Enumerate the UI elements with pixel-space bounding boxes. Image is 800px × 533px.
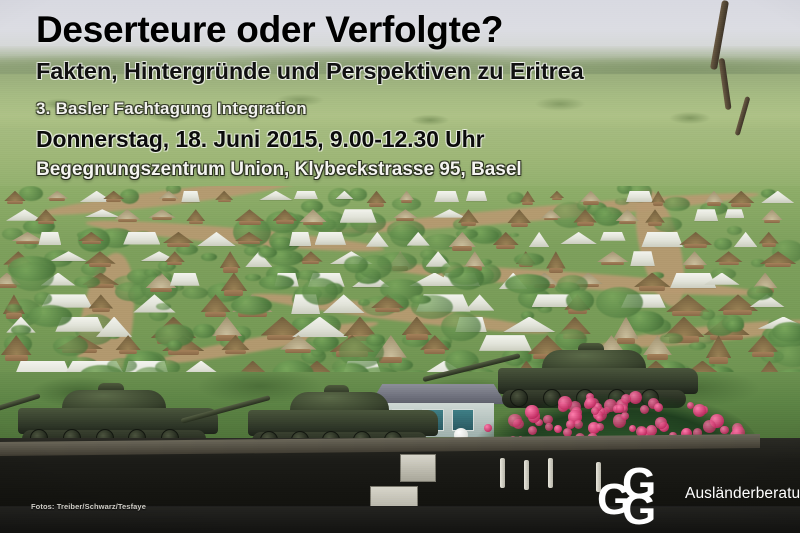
- camp-tent: [704, 273, 740, 285]
- camp-hut: [393, 209, 418, 218]
- oleander-blossom: [566, 420, 575, 429]
- event-series-label: 3. Basler Fachtagung Integration: [36, 99, 776, 119]
- oleander-blossom: [621, 412, 629, 420]
- hut-wall: [189, 221, 203, 225]
- hut-thatch-roof: [343, 317, 376, 337]
- hut-thatch-roof: [682, 251, 708, 265]
- camp-hut: [215, 191, 233, 200]
- camp-hut: [234, 232, 264, 242]
- hut-wall: [684, 244, 708, 248]
- hut-thatch-roof: [580, 191, 602, 202]
- hut-wall: [119, 350, 137, 355]
- camp-tent: [694, 209, 718, 221]
- hut-wall: [752, 352, 774, 357]
- oleander-blossom: [585, 397, 596, 408]
- tent-tarp: [641, 232, 683, 247]
- camp-hut: [234, 209, 265, 221]
- tent-tarp: [181, 191, 200, 203]
- camp-tent: [407, 232, 430, 246]
- ggg-wordmark: G G G: [597, 466, 677, 524]
- vegetation-bush: [441, 262, 464, 278]
- hut-wall: [218, 200, 231, 203]
- oleander-blossom: [596, 423, 604, 431]
- hut-thatch-roof: [573, 209, 596, 222]
- camp-tent: [734, 232, 758, 247]
- tent-tarp: [315, 232, 347, 245]
- camp-hut: [366, 191, 386, 204]
- camp-hut: [546, 251, 565, 268]
- vegetation-bush: [663, 197, 689, 211]
- tent-tarp: [503, 317, 556, 333]
- hut-thatch-roof: [211, 317, 242, 337]
- tent-tarp: [694, 209, 718, 221]
- hut-thatch-roof: [706, 335, 732, 358]
- hut-wall: [764, 220, 780, 223]
- camp-hut: [1, 335, 32, 355]
- hut-thatch-roof: [1, 335, 32, 355]
- vegetation-bush: [296, 270, 320, 280]
- hut-thatch-roof: [299, 209, 326, 222]
- hut-wall: [496, 245, 515, 249]
- hut-thatch-roof: [464, 251, 485, 266]
- camp-hut: [634, 273, 670, 287]
- camp-hut: [84, 251, 115, 264]
- camp-hut: [280, 335, 317, 350]
- hut-wall: [152, 217, 172, 220]
- vegetation-bush: [344, 256, 369, 273]
- tent-tarp: [335, 191, 354, 200]
- oleander-blossom: [508, 414, 521, 427]
- hut-thatch-roof: [651, 191, 665, 203]
- hut-wall: [7, 201, 22, 204]
- tent-tarp: [50, 251, 88, 261]
- tent-tarp: [529, 232, 550, 247]
- tent-tarp: [38, 232, 61, 245]
- tent-tarp: [630, 251, 655, 266]
- camp-tent: [560, 232, 597, 244]
- camp-tent: [529, 232, 550, 247]
- vegetation-bush: [201, 253, 217, 261]
- hut-thatch-roof: [200, 294, 230, 312]
- vegetation-bush: [167, 340, 182, 351]
- vegetation-bush: [28, 305, 72, 327]
- camp-hut: [186, 209, 205, 221]
- camp-hut: [520, 191, 535, 203]
- hut-thatch-roof: [420, 335, 449, 350]
- hut-thatch-roof: [402, 317, 433, 336]
- vegetation-bush: [6, 304, 22, 312]
- hut-thatch-roof: [164, 251, 185, 262]
- event-date-time: Donnerstag, 18. Juni 2015, 9.00-12.30 Uh…: [36, 126, 776, 153]
- hut-wall: [162, 198, 176, 200]
- camp-tent: [38, 232, 61, 245]
- hut-wall: [302, 261, 319, 264]
- camp-hut: [402, 317, 433, 336]
- tent-tarp: [366, 232, 389, 247]
- camp-hut: [464, 251, 485, 266]
- hut-wall: [369, 203, 384, 207]
- vegetation-bush: [596, 287, 642, 318]
- vegetation-bush: [182, 287, 207, 299]
- hut-wall: [762, 243, 776, 247]
- poster-subtitle: Fakten, Hintergründe und Perspektiven zu…: [36, 59, 776, 85]
- photo-credit: Fotos: Treiber/Schwarz/Tesfaye: [31, 502, 146, 511]
- camp-hut: [760, 251, 797, 264]
- hut-thatch-roof: [761, 209, 783, 220]
- hut-wall: [648, 222, 662, 226]
- hut-thatch-roof: [458, 209, 479, 223]
- hut-thatch-roof: [186, 209, 205, 221]
- tent-tarp: [626, 191, 653, 202]
- hut-wall: [118, 219, 137, 222]
- hut-thatch-roof: [541, 209, 561, 218]
- camp-hut: [715, 251, 743, 262]
- camp-hut: [46, 191, 68, 199]
- camp-hut: [4, 191, 25, 201]
- camp-tent: [292, 317, 347, 337]
- camp-hut: [159, 191, 179, 199]
- hut-thatch-roof: [507, 209, 531, 223]
- camp-hut: [679, 232, 712, 245]
- camp-tent: [96, 317, 132, 337]
- hut-thatch-roof: [704, 191, 724, 203]
- oleander-blossom: [596, 415, 603, 422]
- camp-tent: [366, 232, 389, 247]
- tent-tarp: [294, 191, 318, 199]
- camp-hut: [78, 232, 105, 242]
- hut-thatch-roof: [520, 191, 535, 203]
- camp-tent: [434, 191, 459, 202]
- camp-hut: [200, 294, 230, 312]
- hut-thatch-roof: [448, 232, 476, 247]
- hut-thatch-roof: [234, 232, 264, 242]
- hut-thatch-roof: [162, 232, 194, 244]
- hut-wall: [167, 243, 190, 247]
- camp-hut: [211, 317, 242, 337]
- tent-tarp: [407, 232, 430, 246]
- hut-thatch-roof: [715, 251, 743, 262]
- hut-thatch-roof: [114, 209, 140, 219]
- hut-wall: [49, 198, 65, 200]
- hut-thatch-roof: [215, 191, 233, 200]
- camp-tent: [503, 317, 556, 333]
- hut-thatch-roof: [35, 209, 57, 221]
- hut-wall: [719, 262, 739, 265]
- camp-hut: [706, 335, 732, 358]
- tent-tarp: [465, 294, 495, 310]
- oleander-blossom: [525, 405, 538, 418]
- ggg-logo-label: Ausländerberatung: [685, 485, 800, 503]
- camp-hut: [493, 232, 519, 245]
- vegetation-bush: [747, 286, 773, 300]
- camp-tent: [289, 232, 311, 247]
- event-venue: Begegnungszentrum Union, Klybeckstrasse …: [36, 159, 776, 181]
- camp-hut: [162, 232, 194, 244]
- hut-thatch-roof: [597, 251, 629, 262]
- oleander-blossom: [640, 405, 649, 414]
- camp-hut: [115, 335, 140, 350]
- oleander-blossom: [703, 420, 716, 433]
- camp-hut: [103, 191, 125, 200]
- tent-tarp: [734, 232, 758, 247]
- hut-thatch-roof: [760, 251, 797, 264]
- tent-tarp: [170, 273, 200, 286]
- hut-wall: [276, 220, 294, 223]
- hut-thatch-roof: [393, 209, 418, 218]
- camp-tent: [641, 232, 683, 247]
- memorial-plaque: [400, 454, 436, 482]
- vegetation-bush: [441, 312, 481, 341]
- hut-thatch-roof: [280, 335, 317, 350]
- camp-hut: [399, 191, 414, 200]
- camp-tent: [600, 232, 625, 241]
- camp-hut: [759, 232, 779, 244]
- camp-hut: [220, 251, 241, 268]
- camp-hut: [114, 209, 140, 219]
- camp-tent: [197, 232, 236, 246]
- camp-hut: [35, 209, 57, 221]
- plinth-ledge: [0, 434, 760, 456]
- camp-hut: [221, 335, 250, 350]
- hut-wall: [577, 222, 594, 226]
- camp-tent: [725, 209, 745, 218]
- hut-wall: [511, 223, 528, 227]
- camp-tent: [315, 232, 347, 245]
- oleander-blossom: [484, 424, 492, 432]
- hut-wall: [396, 218, 414, 221]
- camp-hut: [448, 232, 476, 247]
- hut-thatch-roof: [546, 251, 565, 268]
- hut-wall: [583, 201, 599, 204]
- railing-post: [500, 458, 505, 488]
- vegetation-bush: [107, 358, 137, 373]
- hut-wall: [167, 262, 182, 265]
- vegetation-bush: [258, 247, 276, 258]
- camp-tent: [294, 191, 318, 199]
- vegetation-bush: [700, 309, 715, 320]
- vegetation-bush: [34, 292, 52, 305]
- tent-tarp: [289, 232, 311, 247]
- hut-wall: [303, 222, 323, 226]
- hut-wall: [82, 241, 101, 244]
- vegetation-bush: [410, 295, 431, 304]
- camp-hut: [573, 209, 596, 222]
- vegetation-bush: [156, 303, 171, 310]
- camp-hut: [507, 209, 531, 223]
- hut-thatch-roof: [234, 209, 265, 221]
- hut-wall: [225, 350, 246, 355]
- camp-hut: [343, 317, 376, 337]
- hut-wall: [285, 349, 311, 353]
- hut-thatch-roof: [115, 335, 140, 350]
- hut-wall: [379, 357, 402, 364]
- oleander-blossom: [558, 396, 572, 410]
- camp-tent: [626, 191, 653, 202]
- camp-hut: [221, 273, 247, 291]
- oleander-blossom: [528, 426, 537, 435]
- hut-thatch-roof: [4, 191, 25, 201]
- railing-post: [548, 458, 553, 488]
- tent-tarp: [560, 232, 597, 244]
- camp-hut: [164, 251, 185, 262]
- camp-tent: [181, 191, 200, 203]
- ggg-letter-icon: G: [622, 488, 654, 532]
- hut-thatch-roof: [273, 209, 297, 220]
- camp-hut: [420, 335, 449, 350]
- camp-hut: [299, 209, 326, 222]
- hut-wall: [92, 308, 110, 312]
- camp-hut: [761, 209, 783, 220]
- camp-hut: [682, 251, 708, 265]
- hut-thatch-roof: [634, 273, 670, 287]
- oleander-blossom: [654, 403, 663, 412]
- tent-tarp: [704, 273, 740, 285]
- camp-hut: [89, 294, 114, 308]
- hut-thatch-roof: [366, 191, 386, 204]
- camp-hut: [704, 191, 724, 203]
- camp-hut: [645, 209, 665, 222]
- tent-tarp: [96, 317, 132, 337]
- tent-tarp: [725, 209, 745, 218]
- tent-tarp: [123, 232, 160, 245]
- hut-wall: [16, 241, 39, 244]
- hut-wall: [685, 265, 704, 269]
- hut-wall: [238, 241, 259, 244]
- railing-post: [524, 460, 529, 490]
- camp-tent: [50, 251, 88, 261]
- hut-thatch-roof: [84, 251, 115, 264]
- hut-wall: [150, 288, 172, 293]
- hut-wall: [168, 350, 199, 355]
- vegetation-bush: [714, 238, 732, 251]
- hut-thatch-roof: [645, 209, 665, 222]
- camp-hut: [549, 191, 564, 199]
- poster-title: Deserteure oder Verfolgte?: [36, 10, 776, 49]
- hut-wall: [375, 308, 399, 312]
- camp-tent: [259, 191, 293, 201]
- hut-wall: [619, 221, 636, 225]
- tent-tarp: [259, 191, 293, 201]
- ggg-logo: G G G Ausländerberatung: [597, 466, 782, 524]
- oleander-blossom: [554, 425, 562, 433]
- camp-tent: [761, 191, 794, 203]
- tent-tarp: [761, 191, 794, 203]
- vegetation-bush: [302, 278, 338, 304]
- oleander-blossom: [693, 404, 706, 417]
- poster-text-block: Deserteure oder Verfolgte? Fakten, Hinte…: [36, 10, 776, 181]
- tent-tarp: [466, 191, 488, 202]
- vegetation-bush: [566, 290, 594, 311]
- camp-tent: [630, 251, 655, 266]
- camp-hut: [651, 191, 665, 203]
- oleander-blossom: [574, 420, 583, 429]
- hut-thatch-roof: [615, 209, 639, 221]
- hut-wall: [765, 263, 791, 267]
- camp-tent: [335, 191, 354, 200]
- hut-thatch-roof: [399, 191, 414, 200]
- hut-wall: [239, 221, 261, 225]
- camp-hut: [458, 209, 479, 223]
- hut-wall: [38, 221, 54, 225]
- hut-thatch-roof: [728, 191, 755, 204]
- camp-tent: [466, 191, 488, 202]
- camp-hut: [541, 209, 561, 218]
- hut-wall: [601, 262, 624, 265]
- tent-tarp: [600, 232, 625, 241]
- camp-hut: [273, 209, 297, 220]
- hut-thatch-roof: [759, 232, 779, 244]
- hut-wall: [424, 349, 445, 353]
- oleander-blossom: [616, 404, 624, 412]
- camp-hut: [597, 251, 629, 262]
- hut-wall: [552, 198, 563, 200]
- hut-wall: [89, 263, 112, 267]
- event-poster: Deserteure oder Verfolgte? Fakten, Hinte…: [0, 0, 800, 533]
- hut-thatch-roof: [493, 232, 519, 245]
- hut-thatch-roof: [220, 251, 241, 268]
- hut-wall: [639, 286, 665, 290]
- hut-wall: [653, 202, 663, 206]
- hut-wall: [461, 222, 476, 226]
- hut-wall: [707, 202, 721, 206]
- oleander-blossom: [687, 402, 694, 409]
- tent-tarp: [340, 209, 377, 222]
- oleander-blossom: [629, 425, 636, 432]
- hut-wall: [106, 199, 122, 202]
- camp-tent: [170, 273, 200, 286]
- hut-thatch-roof: [78, 232, 105, 242]
- hut-wall: [731, 203, 751, 207]
- camp-hut: [615, 209, 639, 221]
- oleander-blossom: [655, 417, 666, 428]
- oleander-blossom: [720, 426, 728, 434]
- tent-tarp: [197, 232, 236, 246]
- vegetation-bush: [514, 253, 544, 266]
- hut-thatch-roof: [679, 232, 712, 245]
- hut-thatch-roof: [221, 335, 250, 350]
- camp-hut: [148, 209, 175, 218]
- oleander-blossom: [545, 423, 553, 431]
- hut-thatch-roof: [89, 294, 114, 308]
- oleander-blossom: [621, 394, 631, 404]
- camp-hut: [580, 191, 602, 202]
- camp-hut: [728, 191, 755, 204]
- hut-wall: [401, 200, 412, 203]
- tent-tarp: [434, 191, 459, 202]
- camp-tent: [123, 232, 160, 245]
- tent-tarp: [292, 317, 347, 337]
- camp-tent: [465, 294, 495, 310]
- vegetation-bush: [11, 325, 31, 335]
- hut-thatch-roof: [221, 273, 247, 291]
- vegetation-bush: [11, 262, 54, 291]
- hut-wall: [522, 202, 533, 205]
- camp-tent: [340, 209, 377, 222]
- vegetation-bush: [259, 275, 294, 290]
